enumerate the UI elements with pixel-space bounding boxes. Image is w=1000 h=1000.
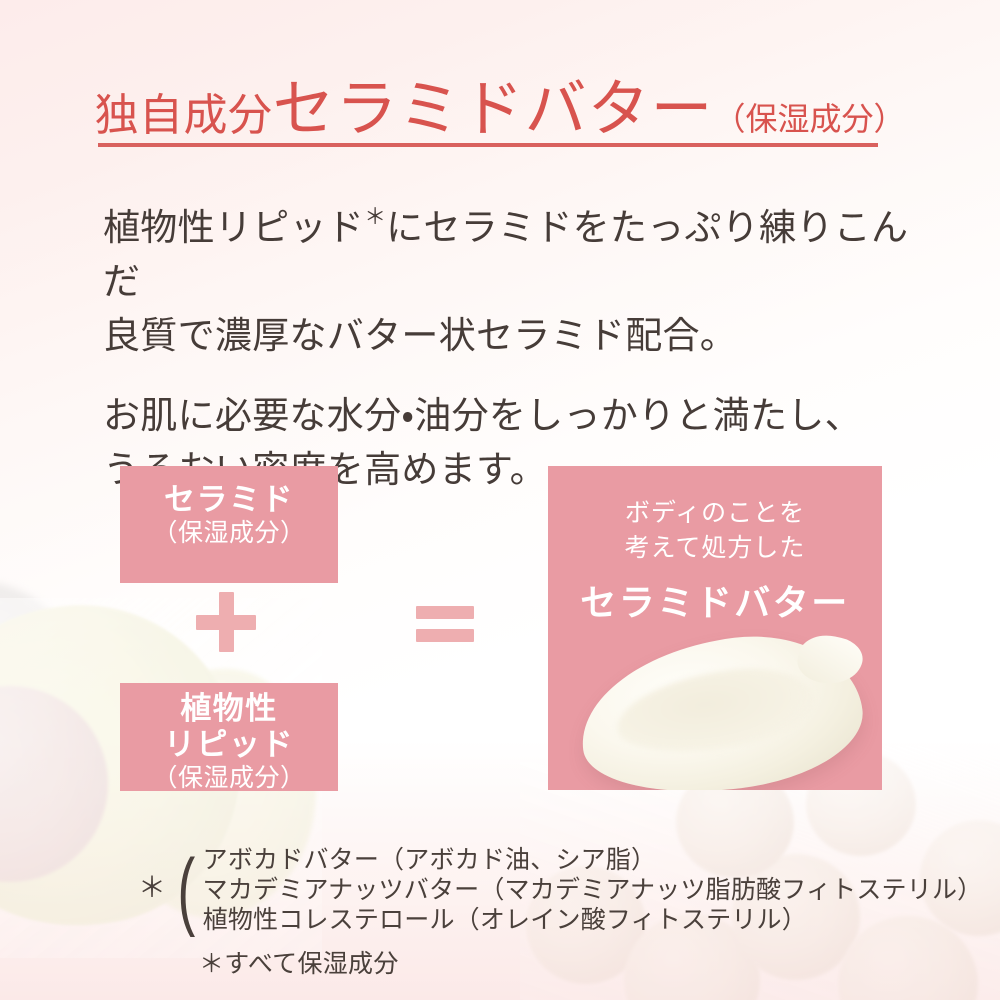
footnote-lines: アボカドバター（アボカド油、シア脂） マカデミアナッツバター（マカデミアナッツ脂… [203, 845, 983, 935]
asterisk-marker: ＊ [364, 204, 386, 229]
result-lead-line1: ボディのことを [548, 496, 882, 531]
plus-icon [196, 592, 256, 652]
result-box: ボディのことを 考えて処方した セラミドバター [548, 466, 882, 790]
ceramide-box-note: （保湿成分） [120, 518, 338, 549]
body-copy: 植物性リピッド＊にセラミドをたっぷり練りこんだ 良質で濃厚なバター状セラミド配合… [103, 190, 933, 497]
plant-lipid-box-note: （保湿成分） [120, 763, 338, 794]
plus-vertical-bar [219, 592, 234, 652]
paragraph-1-line-2: 良質で濃厚なバター状セラミド配合。 [103, 309, 933, 363]
plant-lipid-box-name-line1: 植物性 [120, 691, 338, 727]
plant-lipid-box: 植物性 リピッド （保湿成分） [120, 683, 338, 791]
footnote-line-1: アボカドバター（アボカド油、シア脂） [203, 845, 983, 875]
lipid-term: 植物性リピッド [103, 207, 364, 248]
page-title: 独自成分セラミドバター（保湿成分） [0, 58, 1000, 148]
ingredient-footnote: ＊ ( アボカドバター（アボカド油、シア脂） マカデミアナッツバター（マカデミア… [138, 845, 982, 935]
footnote-brace-icon: ( [177, 855, 195, 926]
title-main: セラミドバター [272, 76, 713, 144]
title-prefix: 独自成分 [94, 91, 272, 140]
title-suffix: （保湿成分） [714, 101, 906, 137]
paragraph-2-line-1: お肌に必要な水分・油分をしっかりと満たし、 [103, 389, 933, 443]
equals-top-bar [416, 606, 474, 619]
footnote-line-3: 植物性コレステロール（オレイン酸フィトステリル） [203, 905, 983, 935]
ceramide-box: セラミド （保湿成分） [120, 466, 338, 583]
equals-bottom-bar [416, 629, 474, 642]
paragraph-1-line-1: 植物性リピッド＊にセラミドをたっぷり練りこんだ [103, 190, 933, 309]
result-product-name: セラミドバター [548, 574, 882, 626]
result-lead-line2: 考えて処方した [548, 531, 882, 566]
ceramide-box-name: セラミド [120, 482, 338, 518]
footnote-line-2: マカデミアナッツバター（マカデミアナッツ脂肪酸フィトステリル） [203, 875, 983, 905]
butter-cream-swatch [572, 634, 868, 790]
title-divider [98, 143, 878, 147]
plant-lipid-box-name-line2: リピッド [120, 727, 338, 763]
footnote-all-moisturizing: ＊すべて保湿成分 [199, 944, 399, 980]
footnote-asterisk: ＊ [138, 874, 166, 906]
infographic-page: 独自成分セラミドバター（保湿成分） 植物性リピッド＊にセラミドをたっぷり練りこん… [0, 0, 1000, 1000]
equals-icon [416, 606, 474, 642]
